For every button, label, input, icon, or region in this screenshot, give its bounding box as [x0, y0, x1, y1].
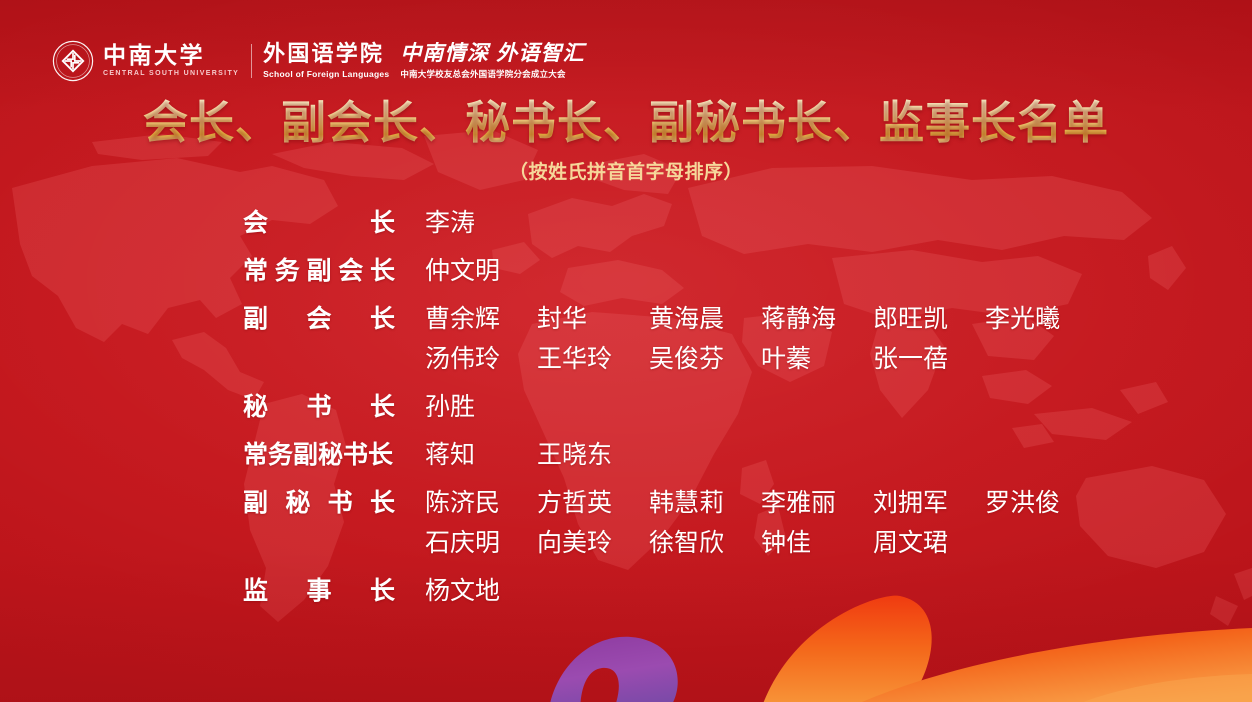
role-label: 常务副秘书长	[243, 435, 395, 475]
name-group: 曹余辉封华黄海晨蒋静海郎旺凯李光曦	[395, 299, 1097, 339]
name-group: 汤伟玲王华玲吴俊芬叶蓁张一蓓	[395, 339, 985, 379]
person-name: 封华	[537, 299, 649, 339]
school-name-en: School of Foreign Languages	[263, 69, 389, 79]
roster-row: 副秘书长陈济民方哲英韩慧莉李雅丽刘拥军罗洪俊	[243, 483, 1143, 523]
person-name: 石庆明	[425, 523, 537, 563]
roster-row: 监事长杨文地	[243, 571, 1143, 611]
name-group: 杨文地	[395, 571, 537, 611]
name-group: 李涛	[395, 203, 537, 243]
page-title: 会长、副会长、秘书长、副秘书长、监事长名单	[143, 96, 1109, 151]
person-name-text: 叶蓁	[761, 339, 839, 379]
roster-row: 秘书长孙胜	[243, 387, 1143, 427]
person-name: 方哲英	[537, 483, 649, 523]
role-label-char: 长	[370, 251, 395, 291]
person-name: 向美玲	[537, 523, 649, 563]
role-label	[243, 523, 395, 563]
role-label: 监事长	[243, 571, 395, 611]
name-group: 蒋知王晓东	[395, 435, 649, 475]
role-label-char: 书	[306, 387, 331, 427]
school-name-cn: 外国语学院	[263, 43, 389, 65]
title-block: 会长、副会长、秘书长、副秘书长、监事长名单 （按姓氏拼音首字母排序）	[0, 96, 1252, 184]
person-name: 杨文地	[425, 571, 537, 611]
person-name-text: 封华	[537, 299, 615, 339]
person-name: 孙胜	[425, 387, 537, 427]
roster-row: 石庆明向美玲徐智欣钟佳周文珺	[243, 523, 1143, 563]
university-name-en: CENTRAL SOUTH UNIVERSITY	[103, 70, 239, 78]
role-label-char: 长	[370, 203, 395, 243]
person-name: 罗洪俊	[985, 483, 1097, 523]
person-name: 张一蓓	[873, 339, 985, 379]
person-name: 李雅丽	[761, 483, 873, 523]
role-label-char: 秘	[285, 483, 310, 523]
role-label-char: 会	[243, 203, 268, 243]
role-label-char: 副	[306, 251, 331, 291]
university-name-cn: 中南大学	[103, 44, 239, 67]
roster-row: 常务副会长仲文明	[243, 251, 1143, 291]
person-name: 陈济民	[425, 483, 537, 523]
role-label-char: 监	[243, 571, 268, 611]
person-name: 韩慧莉	[649, 483, 761, 523]
page-subtitle: （按姓氏拼音首字母排序）	[0, 157, 1252, 184]
roster-row: 常务副秘书长蒋知王晓东	[243, 435, 1143, 475]
person-name-text: 李涛	[425, 203, 503, 243]
person-name: 蒋静海	[761, 299, 873, 339]
person-name: 王华玲	[537, 339, 649, 379]
person-name: 钟佳	[761, 523, 873, 563]
person-name-text: 蒋知	[425, 435, 503, 475]
role-label: 会长	[243, 203, 395, 243]
university-name-block: 中南大学 CENTRAL SOUTH UNIVERSITY	[103, 40, 239, 82]
role-label-char: 长	[370, 571, 395, 611]
role-label	[243, 339, 395, 379]
person-name: 汤伟玲	[425, 339, 537, 379]
role-label-char: 书	[328, 483, 353, 523]
logo-divider	[251, 44, 252, 78]
role-label: 副秘书长	[243, 483, 395, 523]
person-name: 黄海晨	[649, 299, 761, 339]
person-name: 叶蓁	[761, 339, 873, 379]
person-name: 周文珺	[873, 523, 985, 563]
name-group: 孙胜	[395, 387, 537, 427]
name-group: 仲文明	[395, 251, 537, 291]
roster-row: 会长李涛	[243, 203, 1143, 243]
person-name-text: 钟佳	[761, 523, 839, 563]
role-label-char: 常	[243, 251, 268, 291]
roster-row: 汤伟玲王华玲吴俊芬叶蓁张一蓓	[243, 339, 1143, 379]
slogan-block: 中南情深 外语智汇 中南大学校友总会外国语学院分会成立大会	[400, 40, 585, 82]
person-name: 仲文明	[425, 251, 537, 291]
person-name: 王晓东	[537, 435, 649, 475]
name-group: 陈济民方哲英韩慧莉李雅丽刘拥军罗洪俊	[395, 483, 1097, 523]
role-label-char: 长	[370, 299, 395, 339]
role-label-char: 会	[306, 299, 331, 339]
csu-crest-emblem-icon	[52, 40, 94, 82]
event-name: 中南大学校友总会外国语学院分会成立大会	[400, 69, 585, 79]
role-label-char: 会	[338, 251, 363, 291]
role-label-char: 事	[306, 571, 331, 611]
role-label-char: 秘	[243, 387, 268, 427]
role-label-char: 长	[370, 483, 395, 523]
school-name-block: 外国语学院 School of Foreign Languages	[263, 40, 389, 82]
name-group: 石庆明向美玲徐智欣钟佳周文珺	[395, 523, 985, 563]
role-label-char: 副	[243, 483, 268, 523]
person-name: 蒋知	[425, 435, 537, 475]
person-name: 徐智欣	[649, 523, 761, 563]
person-name: 吴俊芬	[649, 339, 761, 379]
person-name: 郎旺凯	[873, 299, 985, 339]
role-label-char: 务	[275, 251, 300, 291]
roster-list: 会长李涛常务副会长仲文明副会长曹余辉封华黄海晨蒋静海郎旺凯李光曦 汤伟玲王华玲吴…	[243, 203, 1143, 619]
role-label: 常务副会长	[243, 251, 395, 291]
person-name: 曹余辉	[425, 299, 537, 339]
person-name: 李涛	[425, 203, 537, 243]
roster-row: 副会长曹余辉封华黄海晨蒋静海郎旺凯李光曦	[243, 299, 1143, 339]
role-label: 秘书长	[243, 387, 395, 427]
role-label-char: 长	[370, 387, 395, 427]
slide-canvas: 中南大学 CENTRAL SOUTH UNIVERSITY 外国语学院 Scho…	[0, 0, 1252, 702]
logo-lockup: 中南大学 CENTRAL SOUTH UNIVERSITY 外国语学院 Scho…	[52, 38, 585, 84]
person-name-text: 孙胜	[425, 387, 503, 427]
person-name: 李光曦	[985, 299, 1097, 339]
person-name: 刘拥军	[873, 483, 985, 523]
role-label: 副会长	[243, 299, 395, 339]
slogan-cn: 中南情深 外语智汇	[400, 43, 585, 65]
header-bar: 中南大学 CENTRAL SOUTH UNIVERSITY 外国语学院 Scho…	[0, 0, 1252, 100]
role-label-char: 副	[243, 299, 268, 339]
